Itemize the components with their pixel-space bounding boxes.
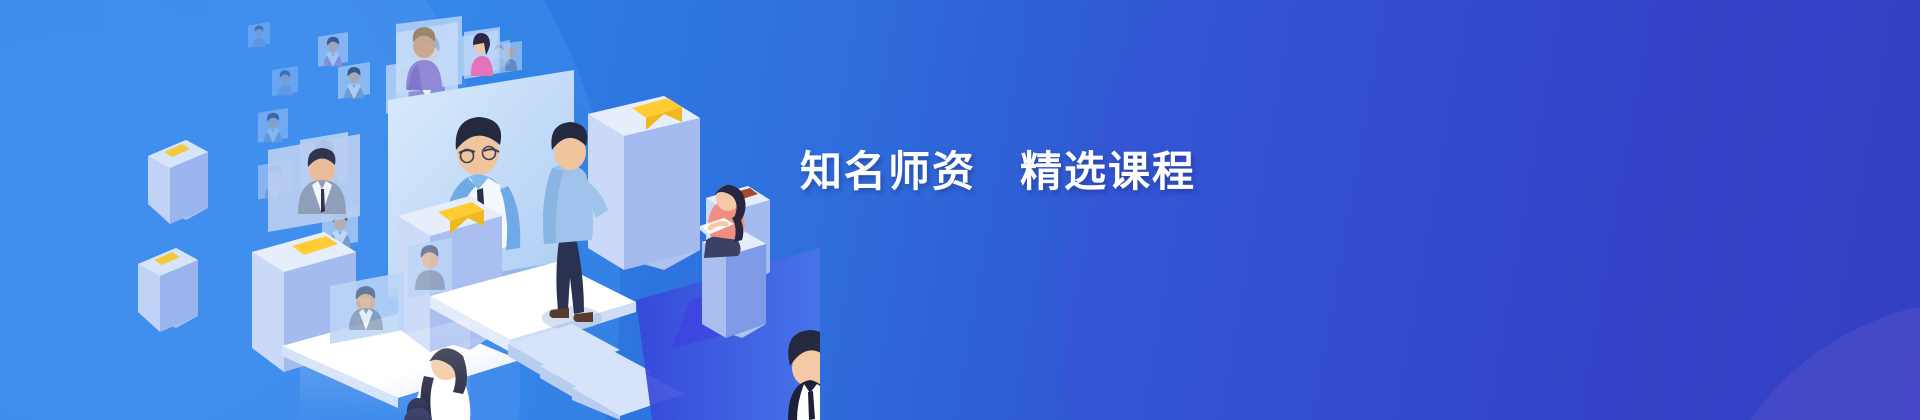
- video-tile: [318, 32, 348, 67]
- video-tile: [272, 66, 298, 96]
- promo-banner: 知名师资 精选课程: [0, 0, 1920, 420]
- floating-book-left-lower: [138, 248, 198, 332]
- page-title: 知名师资 精选课程: [800, 148, 1196, 196]
- video-tile: [338, 62, 370, 99]
- video-tile-suit-large-left: [268, 134, 360, 232]
- education-illustration: [0, 0, 820, 420]
- book-tall-right: [588, 96, 700, 270]
- floating-book-left-upper: [148, 140, 208, 224]
- video-tile-pink-person: [464, 27, 500, 79]
- video-tile-purple-person: [396, 16, 462, 94]
- video-tile: [248, 22, 270, 48]
- video-tile: [258, 108, 288, 143]
- video-tile-lower-mid: [408, 238, 452, 298]
- background-blob-right: [1060, 0, 1920, 420]
- video-tile-mini-right: [500, 41, 522, 73]
